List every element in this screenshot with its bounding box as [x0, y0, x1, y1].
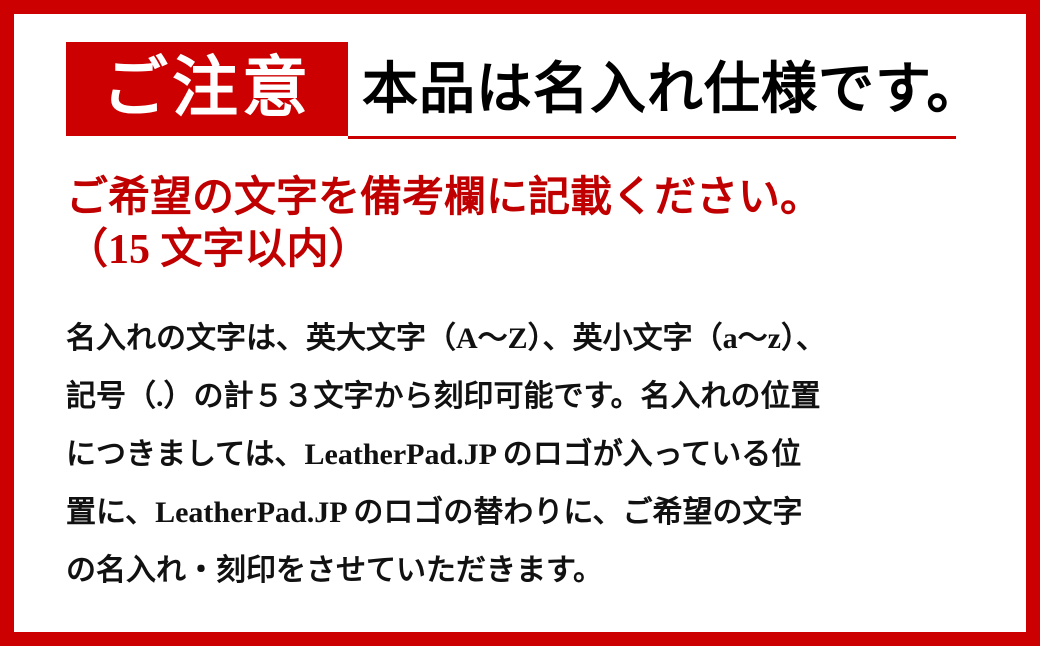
lead-message: ご希望の文字を備考欄に記載ください。 （15 文字以内）: [66, 172, 996, 276]
body-line-2: 記号（.）の計５３文字から刻印可能です。名入れの位置: [66, 368, 996, 426]
body-line-4: 置に、LeatherPad.JP のロゴの替わりに、ご希望の文字: [66, 484, 996, 542]
notice-card: ご注意 本品は名入れ仕様です。 ご希望の文字を備考欄に記載ください。 （15 文…: [0, 0, 1040, 646]
header-underline: [348, 136, 956, 139]
frame-border-left: [0, 0, 14, 646]
body-line-5: の名入れ・刻印をさせていただきます。: [66, 542, 996, 600]
notice-card-inner: ご注意 本品は名入れ仕様です。 ご希望の文字を備考欄に記載ください。 （15 文…: [14, 14, 1026, 632]
frame-border-top: [0, 0, 1040, 14]
body-line-3: につきましては、LeatherPad.JP のロゴが入っている位: [66, 426, 996, 484]
page-title: 本品は名入れ仕様です。: [362, 42, 983, 136]
body-description: 名入れの文字は、英大文字（A〜Z）、英小文字（a〜z）、 記号（.）の計５３文字…: [66, 310, 996, 600]
caution-badge: ご注意: [66, 42, 348, 136]
frame-border-bottom: [0, 632, 1040, 646]
notice-header: ご注意 本品は名入れ仕様です。: [66, 42, 994, 152]
frame-border-right: [1026, 0, 1040, 646]
lead-line-2: （15 文字以内）: [66, 224, 996, 276]
lead-line-1: ご希望の文字を備考欄に記載ください。: [66, 172, 996, 224]
body-line-1: 名入れの文字は、英大文字（A〜Z）、英小文字（a〜z）、: [66, 310, 996, 368]
